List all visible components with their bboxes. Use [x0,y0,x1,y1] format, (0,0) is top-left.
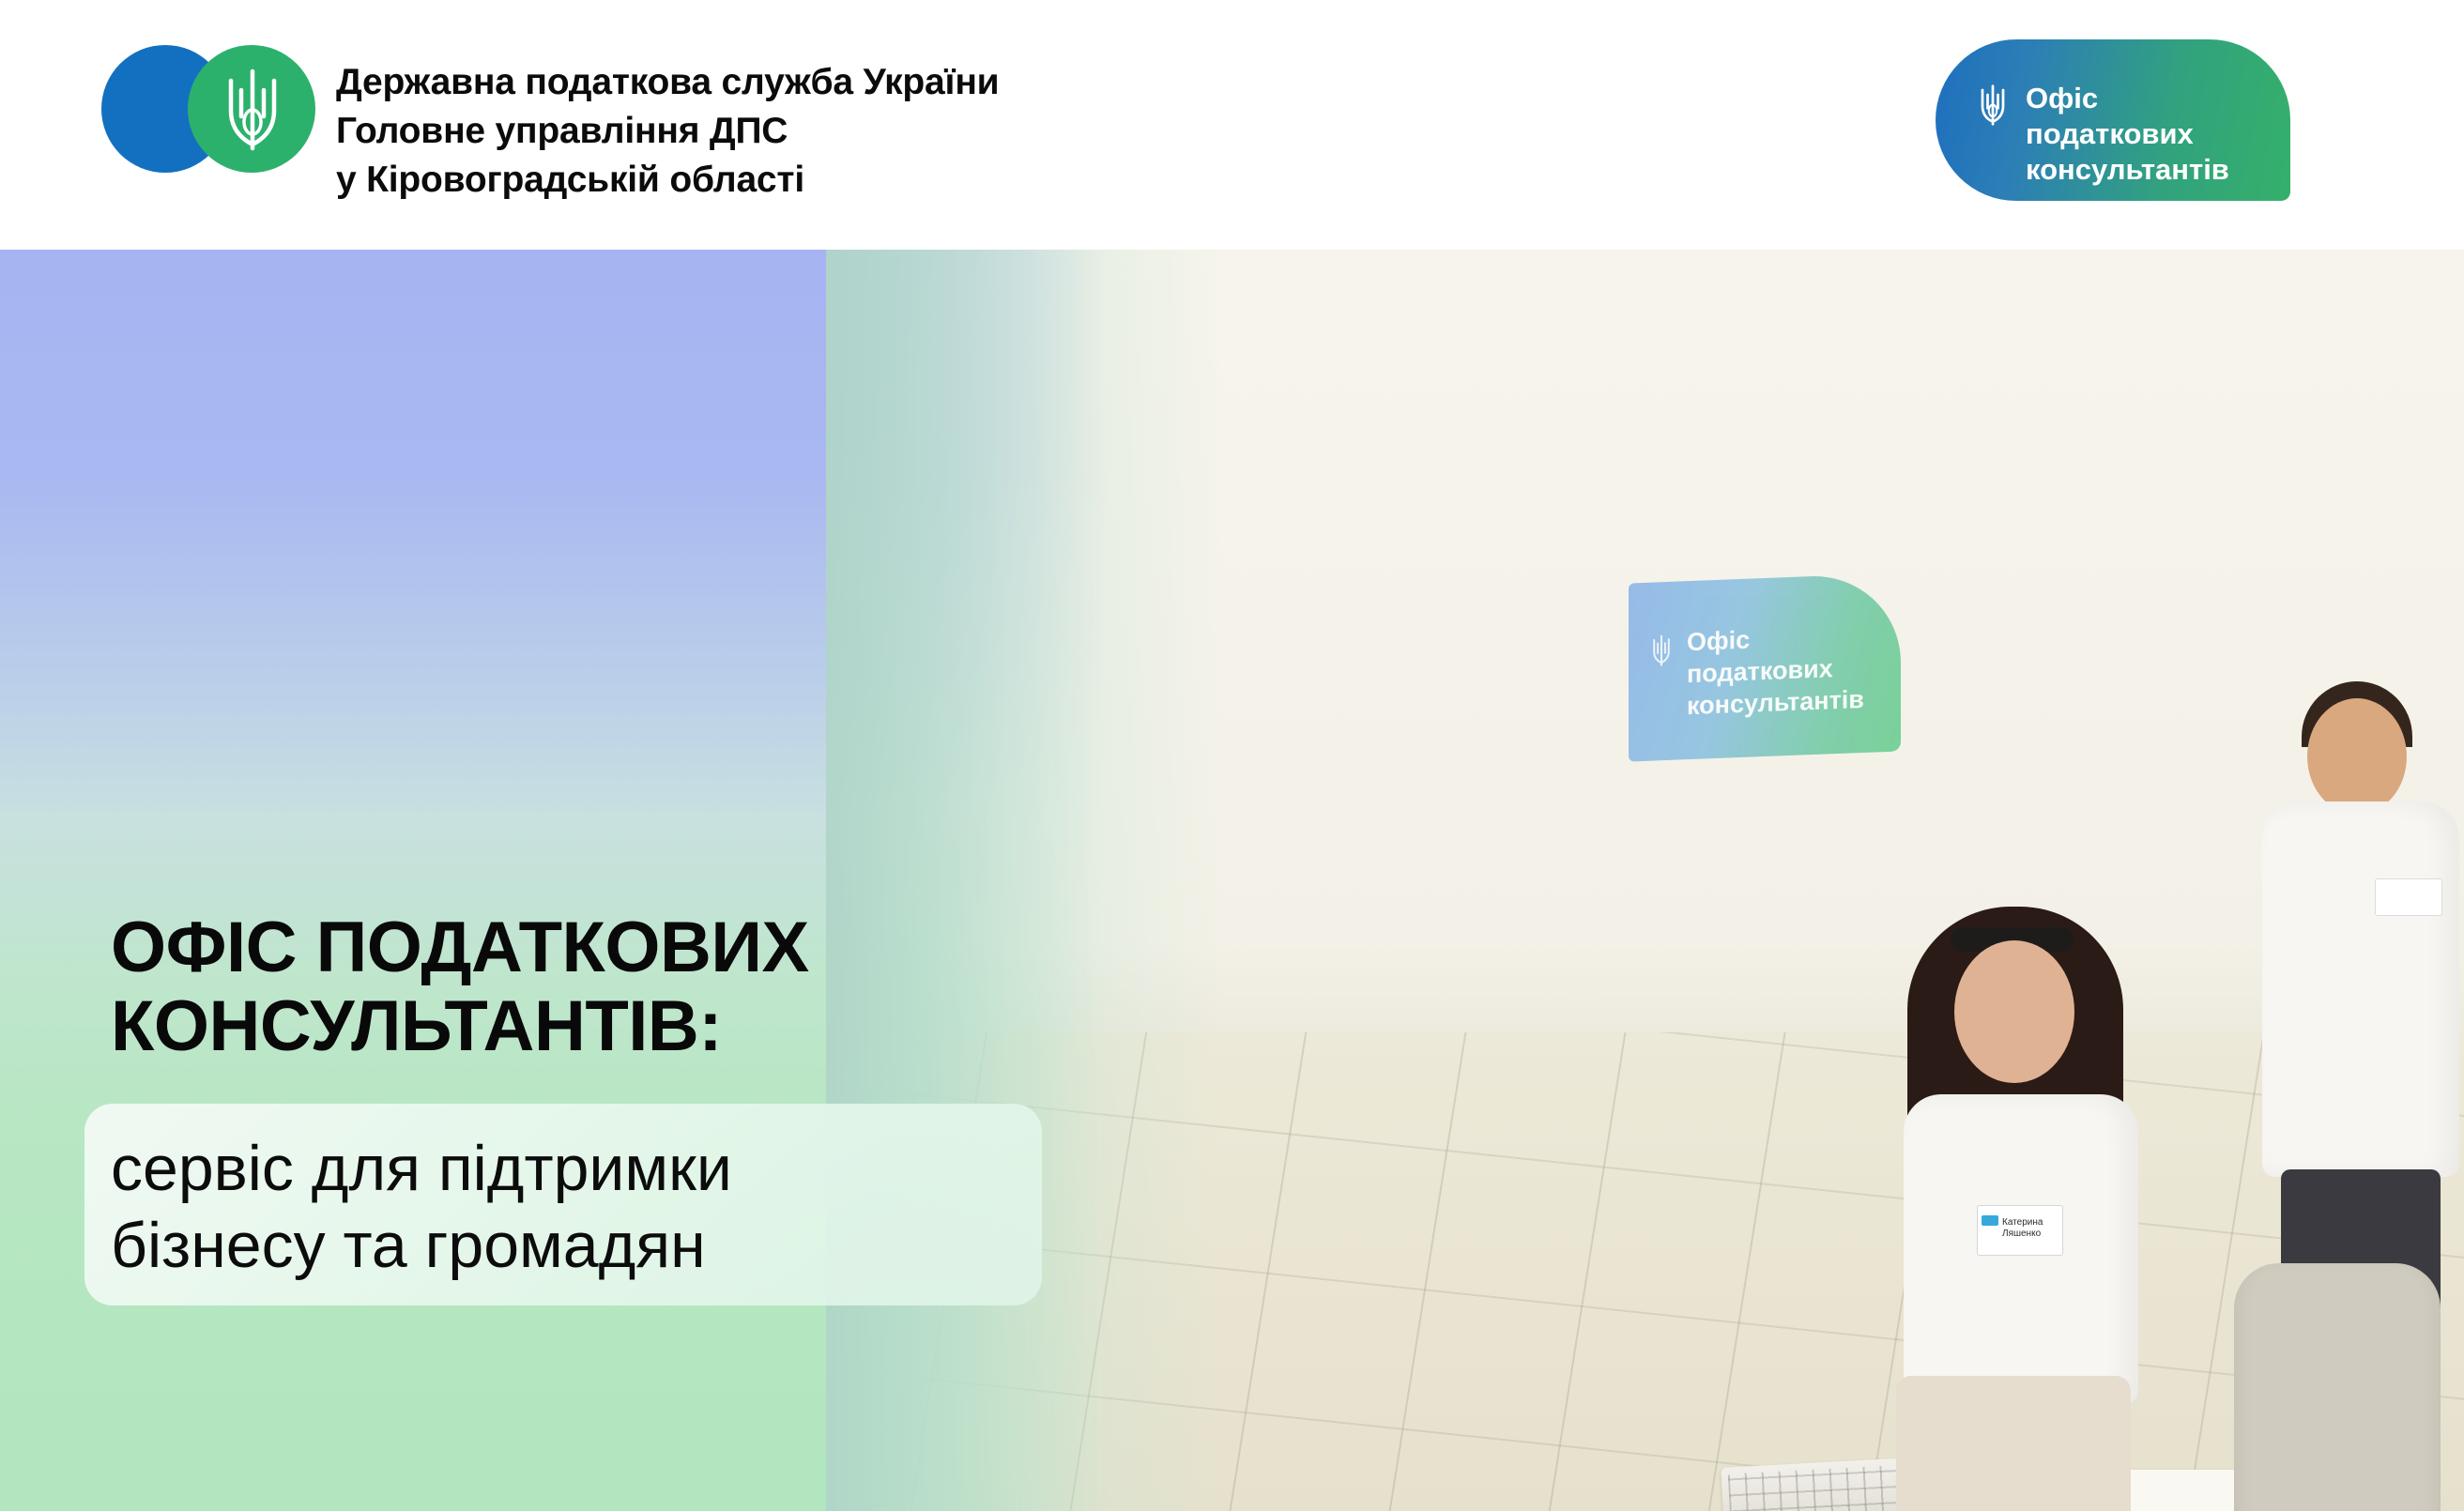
badge-text: Офіс податкових консультантів [2026,81,2229,188]
name-badge-text: Катерина Ляшенко [2002,1217,2043,1240]
skirt [1896,1376,2131,1511]
trident-icon [1977,84,2009,126]
torso [2262,801,2459,1177]
subtitle-line-2: бізнесу та громадян [111,1207,732,1284]
badge-line-2: податкових [2026,116,2229,152]
page-title: ОФІС ПОДАТКОВИХ КОНСУЛЬТАНТІВ: [111,908,809,1066]
org-line-3: у Кіровоградській області [336,156,999,205]
main-visual-stage: Офіс податкових консультантів 2 Офіс под… [0,250,2464,1511]
name-badge-last-name: Ляшенко [2002,1229,2043,1240]
head [1954,940,2074,1083]
head [2307,698,2407,815]
wall-sign-line-3: консультантів [1687,683,1864,722]
organization-brand: Державна податкова служба України Головн… [101,45,999,205]
office-photo: Офіс податкових консультантів 2 Офіс под… [826,250,2464,1511]
floor-tiles [826,1032,2464,1511]
headline-line-1: ОФІС ПОДАТКОВИХ [111,908,809,987]
name-badge [2375,878,2442,916]
dps-logo [101,45,315,173]
chair-back [2234,1263,2441,1511]
wall-sign-branding: Офіс податкових консультантів [1629,572,1901,761]
tax-consultants-office-badge: Офіс податкових консультантів [1936,39,2290,201]
name-badge-first-name: Катерина [2002,1217,2043,1229]
poster-canvas: Офіс податкових консультантів 2 Офіс под… [0,0,2464,1511]
org-line-1: Державна податкова служба України [336,58,999,107]
trident-icon [220,68,285,152]
trident-icon [1649,634,1674,667]
name-badge: Катерина Ляшенко [1977,1205,2063,1256]
badge-line-3: консультантів [2026,152,2229,188]
headline-line-2: КОНСУЛЬТАНТІВ: [111,987,809,1066]
badge-line-1: Офіс [2026,81,2229,116]
subtitle-line-1: сервіс для підтримки [111,1130,732,1207]
org-line-2: Головне управління ДПС [336,107,999,156]
wall-sign-text: Офіс податкових консультантів [1687,619,1864,722]
chair-center [2234,1263,2441,1511]
name-badge-logo [1982,1215,1998,1226]
organization-name: Державна податкова служба України Головн… [336,45,999,205]
badge-content: Офіс податкових консультантів [1977,81,2229,188]
subtitle-text: сервіс для підтримки бізнесу та громадян [111,1130,732,1284]
